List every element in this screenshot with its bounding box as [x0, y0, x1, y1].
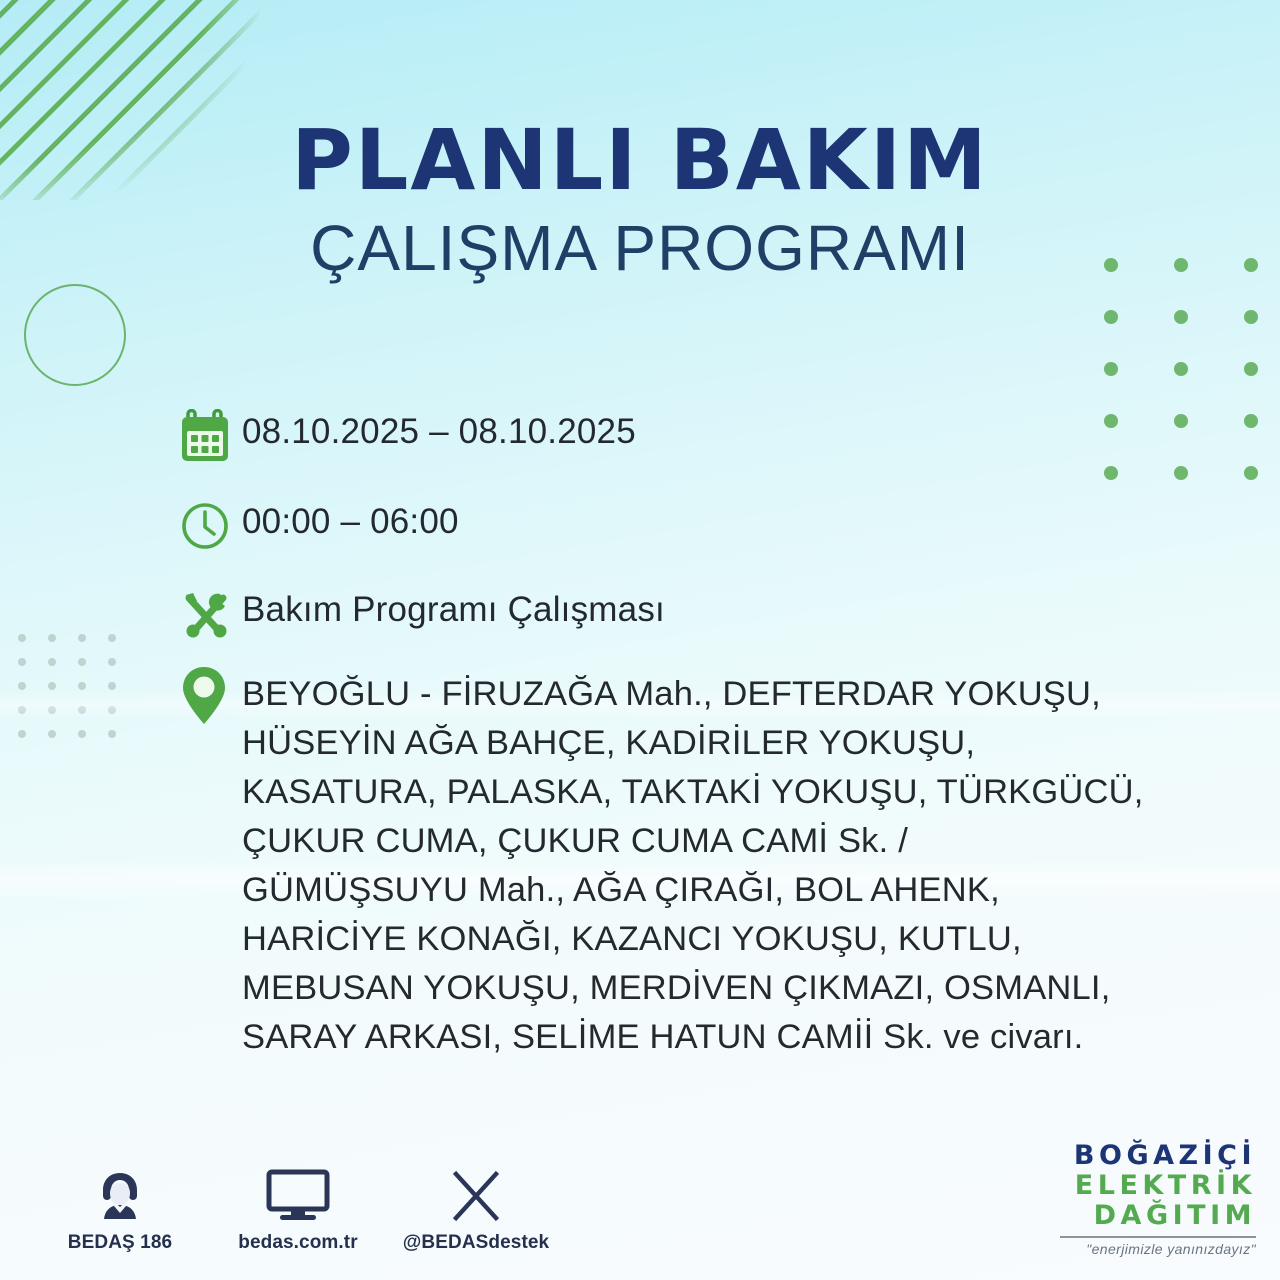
circle-outline-decoration [24, 284, 126, 386]
contact-website[interactable]: bedas.com.tr [238, 1161, 358, 1254]
location-line: BEYOĞLU - FİRUZAĞA Mah., DEFTERDAR YOKUŞ… [242, 670, 1144, 719]
work-type-text: Bakım Programı Çalışması [242, 582, 665, 632]
monitor-website-icon [266, 1161, 330, 1223]
logo-divider [1060, 1236, 1256, 1238]
logo-line-dagitim: DAĞITIM [1060, 1202, 1256, 1229]
location-line: GÜMÜŞSUYU Mah., AĞA ÇIRAĞI, BOL AHENK, [242, 866, 1144, 915]
date-range-text: 08.10.2025 – 08.10.2025 [242, 404, 636, 454]
headset-support-icon [92, 1161, 148, 1223]
work-type-row: Bakım Programı Çalışması [180, 582, 1220, 646]
dot-grid-decoration-left [18, 634, 138, 754]
logo-line-bogazici: BOĞAZİÇİ [1060, 1142, 1256, 1169]
planned-maintenance-poster: PLANLI BAKIM ÇALIŞMA PROGRAMI [0, 0, 1280, 1280]
clock-icon [180, 494, 242, 558]
contact-label: BEDAŞ 186 [68, 1232, 172, 1254]
x-twitter-icon [449, 1161, 503, 1223]
logo-line-elektrik: ELEKTRİK [1060, 1172, 1256, 1199]
bedas-logo: BOĞAZİÇİ ELEKTRİK DAĞITIM "enerjimizle y… [1060, 1142, 1256, 1256]
location-line: HÜSEYİN AĞA BAHÇE, KADİRİLER YOKUŞU, [242, 719, 1144, 768]
date-row: 08.10.2025 – 08.10.2025 [180, 404, 1220, 468]
logo-tagline: "enerjimizle yanınızdayız" [1060, 1242, 1256, 1256]
location-pin-icon [180, 664, 242, 728]
page-title: PLANLI BAKIM [0, 118, 1280, 202]
poster-header: PLANLI BAKIM ÇALIŞMA PROGRAMI [0, 118, 1280, 286]
location-row: BEYOĞLU - FİRUZAĞA Mah., DEFTERDAR YOKUŞ… [180, 664, 1220, 1062]
location-line: HARİCİYE KONAĞI, KAZANCI YOKUŞU, KUTLU, [242, 915, 1144, 964]
contact-label: bedas.com.tr [238, 1232, 357, 1254]
location-line: MEBUSAN YOKUŞU, MERDİVEN ÇIKMAZI, OSMANL… [242, 964, 1144, 1013]
contact-social-x[interactable]: @BEDASdestek [416, 1161, 536, 1254]
location-line: ÇUKUR CUMA, ÇUKUR CUMA CAMİ Sk. / [242, 817, 1144, 866]
contact-call-center[interactable]: BEDAŞ 186 [60, 1161, 180, 1254]
location-line: SARAY ARKASI, SELİME HATUN CAMİİ Sk. ve … [242, 1013, 1144, 1062]
contact-label: @BEDASdestek [403, 1232, 549, 1254]
time-row: 00:00 – 06:00 [180, 494, 1220, 558]
info-block: 08.10.2025 – 08.10.2025 00:00 – 06:00 [180, 404, 1220, 1090]
location-text: BEYOĞLU - FİRUZAĞA Mah., DEFTERDAR YOKUŞ… [242, 664, 1144, 1062]
location-line: KASATURA, PALASKA, TAKTAKİ YOKUŞU, TÜRKG… [242, 768, 1144, 817]
page-subtitle: ÇALIŞMA PROGRAMI [0, 212, 1280, 286]
footer-contacts: BEDAŞ 186 bedas.com.tr [60, 1161, 536, 1254]
tools-icon [180, 582, 242, 646]
time-range-text: 00:00 – 06:00 [242, 494, 459, 544]
calendar-icon [180, 404, 242, 468]
